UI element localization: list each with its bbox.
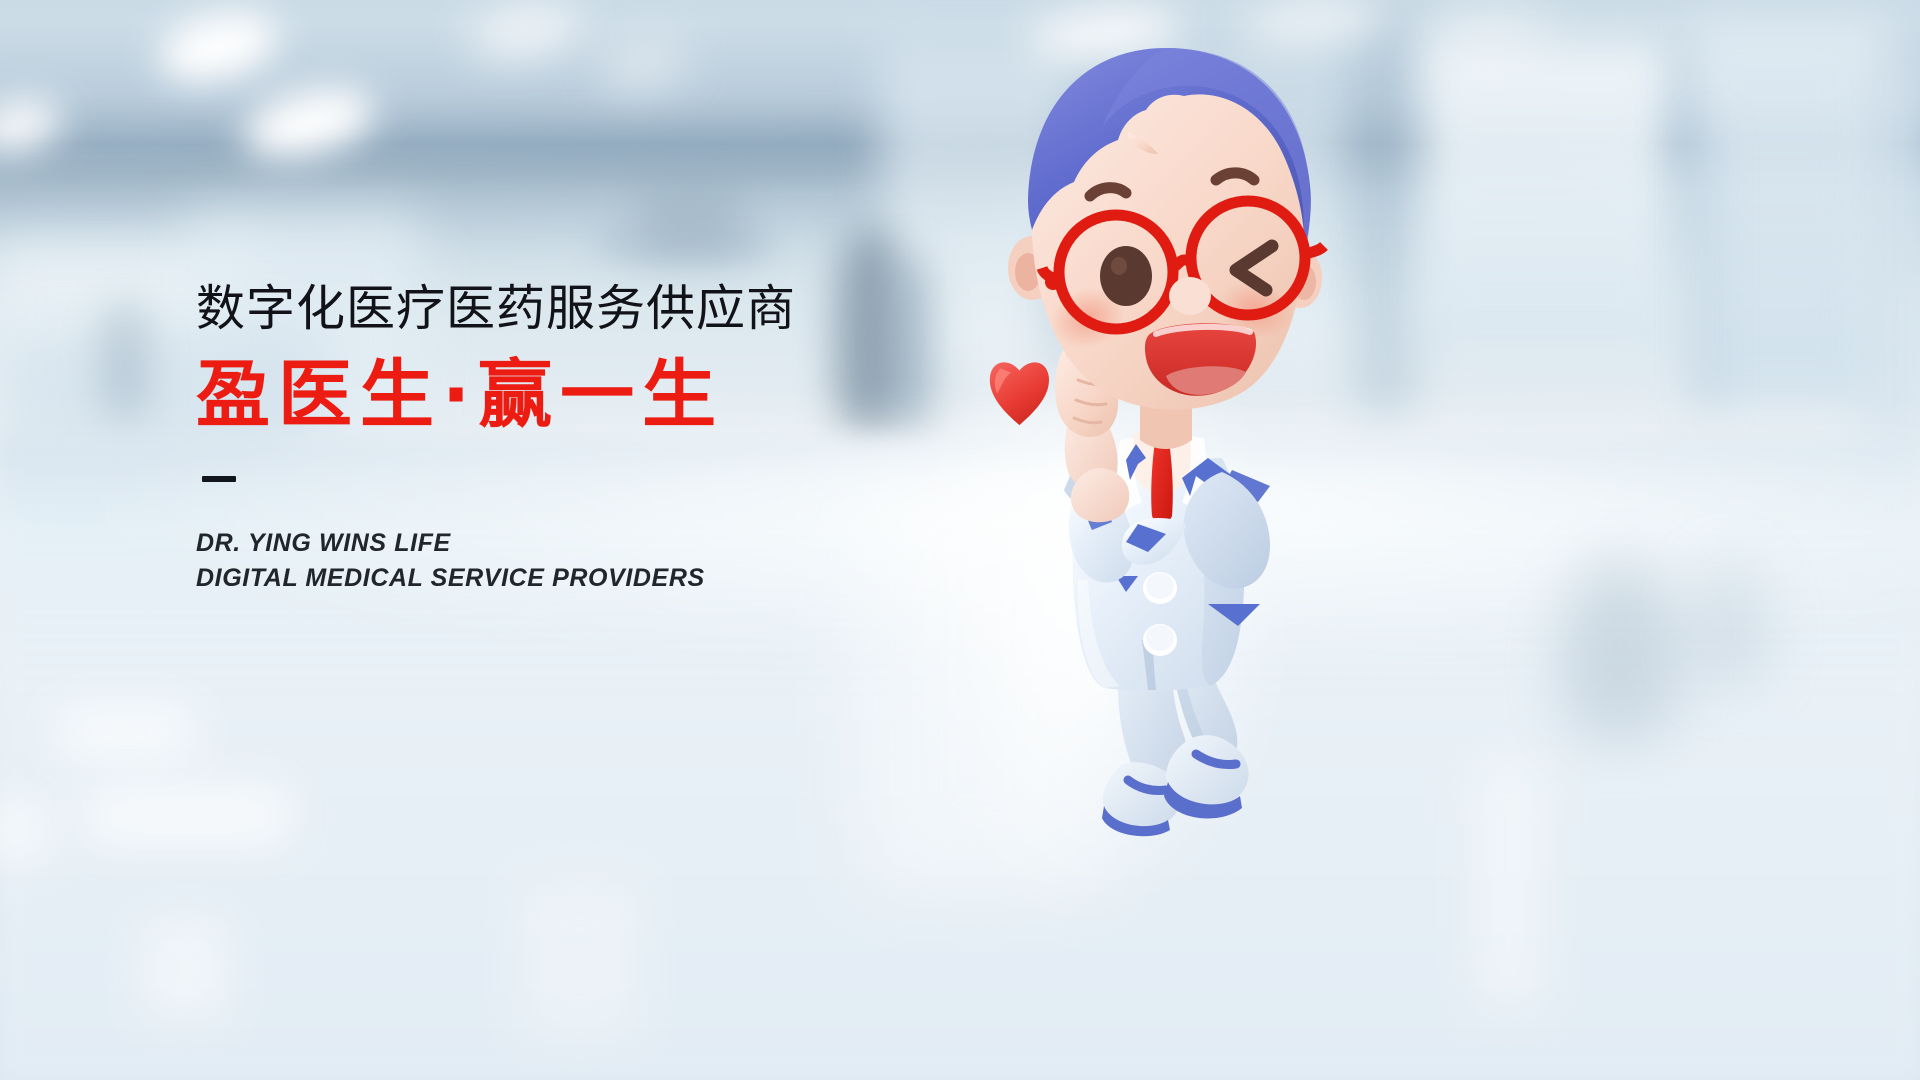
divider-rule <box>202 476 236 482</box>
glass-partition <box>1420 40 1670 340</box>
hero-banner: 数字化医疗医药服务供应商 盈医生·赢一生 DR. YING WINS LIFE … <box>0 0 1920 1080</box>
hero-english-block: DR. YING WINS LIFE DIGITAL MEDICAL SERVI… <box>196 526 956 597</box>
distant-person <box>1690 560 1770 690</box>
floor-reflection <box>140 920 230 1020</box>
hero-copy: 数字化医疗医药服务供应商 盈医生·赢一生 DR. YING WINS LIFE … <box>196 282 956 597</box>
floor-reflection <box>1474 760 1544 1010</box>
floating-heart <box>990 362 1049 425</box>
nose <box>1169 277 1211 315</box>
floor-reflection <box>520 880 640 1040</box>
distant-person <box>1560 560 1680 740</box>
hero-subtitle: 数字化医疗医药服务供应商 <box>196 282 956 336</box>
hero-english-line-1: DR. YING WINS LIFE <box>196 526 956 562</box>
open-eye <box>1100 246 1152 306</box>
glass-partition <box>1860 60 1920 460</box>
distant-person <box>100 300 150 420</box>
hero-english-line-2: DIGITAL MEDICAL SERVICE PROVIDERS <box>196 561 956 597</box>
doctor-mascot <box>970 40 1390 850</box>
glasses-hinge <box>1045 274 1061 290</box>
floor-reflection <box>88 790 288 842</box>
hero-headline: 盈医生·赢一生 <box>196 356 956 436</box>
floor-reflection <box>0 800 50 862</box>
wall-sign <box>600 230 770 256</box>
floor-reflection <box>60 712 190 752</box>
head <box>1008 48 1324 410</box>
glass-partition <box>1700 120 1714 420</box>
